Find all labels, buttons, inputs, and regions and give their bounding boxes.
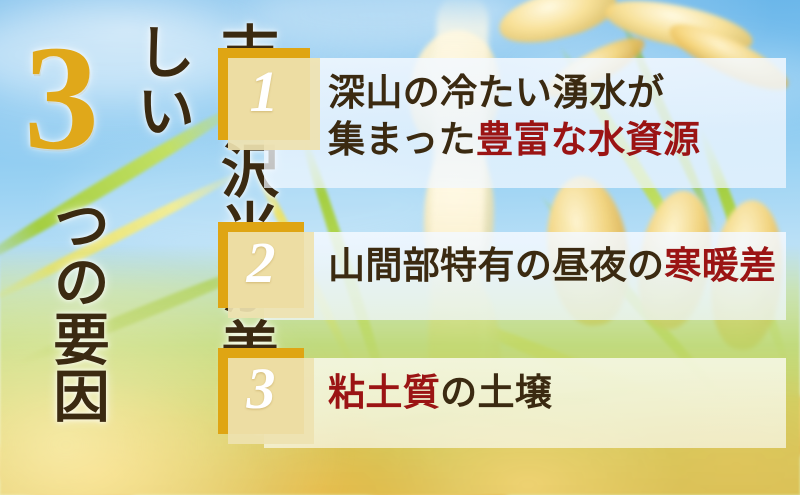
reason-number-badge-3: 3 [218,348,304,434]
reason-number-2: 2 [247,234,276,292]
reason-line: 集まった豊富な水資源 [328,118,780,165]
reason-list: 1 深山の冷たい湧水が 集まった豊富な水資源 2 山間部特有の昼夜の寒暖差 3 [0,0,800,495]
reason-number-1: 1 [250,63,279,121]
reason-number-badge-1: 1 [218,48,310,140]
reason-text-1: 深山の冷たい湧水が 集まった豊富な水資源 [328,56,780,180]
reason-row-2: 2 山間部特有の昼夜の寒暖差 [218,222,786,312]
reason-text-highlight: 豊富な水資源 [476,120,700,161]
reason-line: 粘土質の土壌 [328,371,780,418]
reason-text-highlight: 寒暖差 [664,246,776,287]
reason-text-plain: の土壌 [440,373,552,414]
reason-line: 山間部特有の昼夜の寒暖差 [328,244,780,291]
reason-line: 深山の冷たい湧水が [328,71,780,118]
reason-text-2: 山間部特有の昼夜の寒暖差 [328,222,780,312]
reason-text-plain: 山間部特有の昼夜の [328,246,664,287]
reason-text-plain: 集まった [328,120,476,161]
reason-text-3: 粘土質の土壌 [328,348,780,440]
reason-number-badge-2: 2 [218,222,304,308]
reason-text-highlight: 粘土質 [328,373,440,414]
reason-number-3: 3 [247,360,276,418]
reason-row-1: 1 深山の冷たい湧水が 集まった豊富な水資源 [218,48,786,180]
reason-row-3: 3 粘土質の土壌 [218,348,786,440]
promo-banner: 3 志賀沢米が美味しい つの要因 1 深山の冷たい湧水が 集まった豊富な水資源 … [0,0,800,495]
